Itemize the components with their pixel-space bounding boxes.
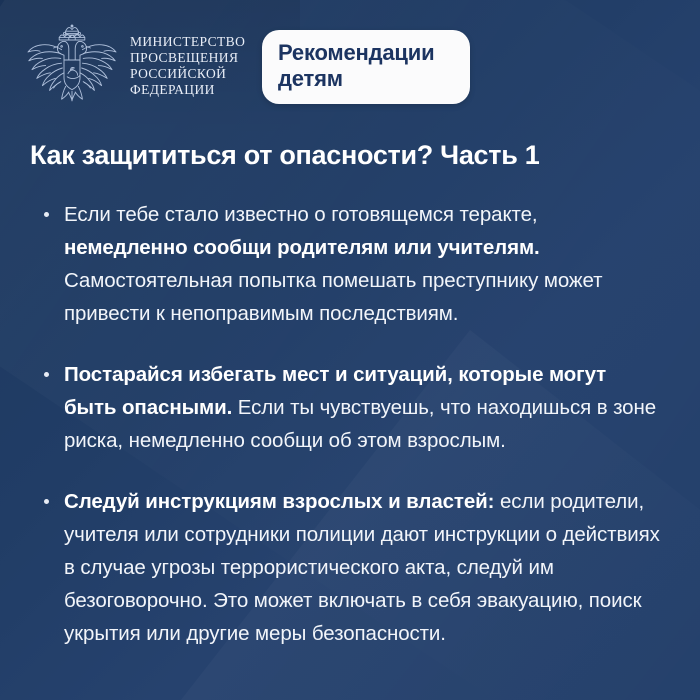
page-title: Как защититься от опасности? Часть 1 (30, 139, 680, 172)
list-item-emphasis: Следуй инструкциям взрослых и властей: (64, 490, 494, 513)
list-item-lead: Если тебе стало известно о готовящемся т… (64, 203, 538, 226)
category-badge: Рекомендации детям (262, 30, 470, 104)
ministry-line-1: МИНИСТЕРСТВО (130, 34, 245, 49)
header: МИНИСТЕРСТВО ПРОСВЕЩЕНИЯ РОССИЙСКОЙ ФЕДЕ… (0, 0, 700, 120)
list-item-text: Если тебе стало известно о готовящемся т… (64, 198, 662, 330)
list-item-emphasis: немедленно сообщи родителям или учителям… (64, 236, 540, 259)
bullet-dot-icon (44, 372, 49, 377)
category-badge-label: Рекомендации детям (278, 40, 454, 92)
ministry-line-3: РОССИЙСКОЙ (130, 66, 245, 81)
russian-double-headed-eagle-icon (24, 24, 120, 104)
ministry-name: МИНИСТЕРСТВО ПРОСВЕЩЕНИЯ РОССИЙСКОЙ ФЕДЕ… (130, 32, 245, 97)
list-item-tail: Самостоятельная попытка помешать преступ… (64, 269, 602, 325)
list-item-text: Постарайся избегать мест и ситуаций, кот… (64, 358, 662, 457)
list-item: Если тебе стало известно о готовящемся т… (36, 198, 662, 330)
bullet-dot-icon (44, 212, 49, 217)
list-item-tail: если родители, учителя или сотрудники по… (64, 490, 660, 645)
list-item-text: Следуй инструкциям взрослых и властей: е… (64, 485, 662, 650)
bullet-dot-icon (44, 499, 49, 504)
ministry-line-2: ПРОСВЕЩЕНИЯ (130, 50, 245, 65)
ministry-brand: МИНИСТЕРСТВО ПРОСВЕЩЕНИЯ РОССИЙСКОЙ ФЕДЕ… (24, 24, 245, 104)
ministry-line-4: ФЕДЕРАЦИИ (130, 82, 245, 97)
list-item: Следуй инструкциям взрослых и властей: е… (36, 485, 662, 650)
list-item: Постарайся избегать мест и ситуаций, кот… (36, 358, 662, 457)
recommendations-list: Если тебе стало известно о готовящемся т… (36, 198, 662, 650)
poster-canvas: МИНИСТЕРСТВО ПРОСВЕЩЕНИЯ РОССИЙСКОЙ ФЕДЕ… (0, 0, 700, 700)
